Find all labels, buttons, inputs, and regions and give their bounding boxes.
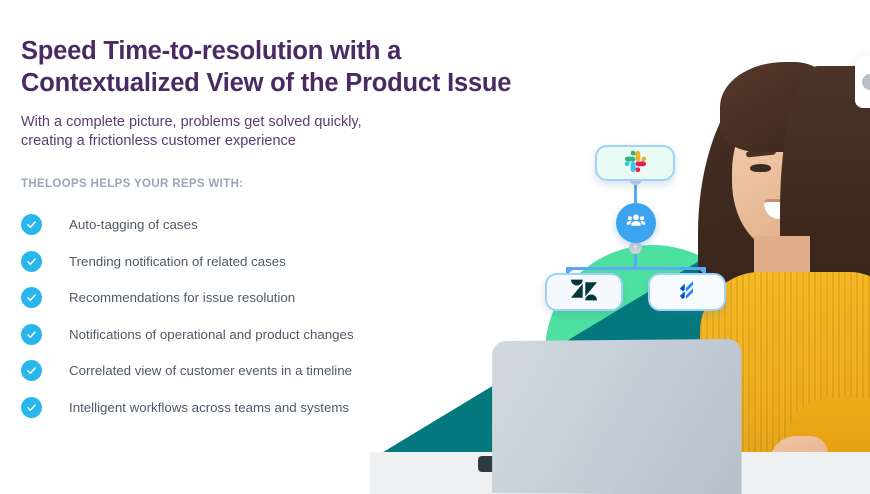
connector-horizontal-branch	[566, 267, 706, 270]
jira-icon	[675, 278, 699, 307]
list-item-label: Correlated view of customer events in a …	[69, 363, 352, 378]
check-circle-icon	[21, 287, 42, 308]
check-circle-icon	[21, 251, 42, 272]
slack-icon	[624, 150, 646, 177]
slide-root: + +	[0, 0, 870, 494]
node-people-group[interactable]	[616, 203, 656, 243]
node-slack[interactable]	[595, 145, 675, 181]
list-item-label: Auto-tagging of cases	[69, 217, 198, 232]
check-circle-icon	[21, 214, 42, 235]
subheadline: With a complete picture, problems get so…	[21, 113, 561, 151]
eye-left	[750, 164, 771, 172]
list-item-label: Intelligent workflows across teams and s…	[69, 400, 349, 415]
integration-flow-diagram: + +	[540, 145, 750, 330]
headline-line-1: Speed Time-to-resolution with a	[21, 37, 401, 65]
list-item: Recommendations for issue resolution	[21, 279, 561, 316]
list-item: Correlated view of customer events in a …	[21, 352, 561, 389]
check-circle-icon	[21, 324, 42, 345]
list-item: Auto-tagging of cases	[21, 206, 561, 243]
headline-line-2: Contextualized View of the Product Issue	[21, 69, 511, 97]
list-item: Intelligent workflows across teams and s…	[21, 389, 561, 426]
list-item-label: Recommendations for issue resolution	[69, 290, 295, 305]
feature-list: Auto-tagging of cases Trending notificat…	[21, 206, 561, 425]
list-item: Notifications of operational and product…	[21, 316, 561, 353]
content-column: Speed Time-to-resolution with a Contextu…	[21, 36, 561, 425]
list-item-label: Notifications of operational and product…	[69, 327, 354, 342]
list-item-label: Trending notification of related cases	[69, 254, 286, 269]
check-circle-icon	[21, 360, 42, 381]
list-item: Trending notification of related cases	[21, 243, 561, 280]
subhead-line-1: With a complete picture, problems get so…	[21, 114, 362, 130]
check-circle-icon	[21, 397, 42, 418]
subhead-line-2: creating a frictionless customer experie…	[21, 133, 296, 149]
page-title: Speed Time-to-resolution with a Contextu…	[21, 36, 561, 99]
node-jira[interactable]	[648, 273, 726, 311]
zendesk-icon	[571, 278, 597, 307]
people-group-icon	[625, 210, 647, 237]
eyebrow-label: THELOOPS HELPS YOUR REPS WITH:	[21, 178, 561, 190]
